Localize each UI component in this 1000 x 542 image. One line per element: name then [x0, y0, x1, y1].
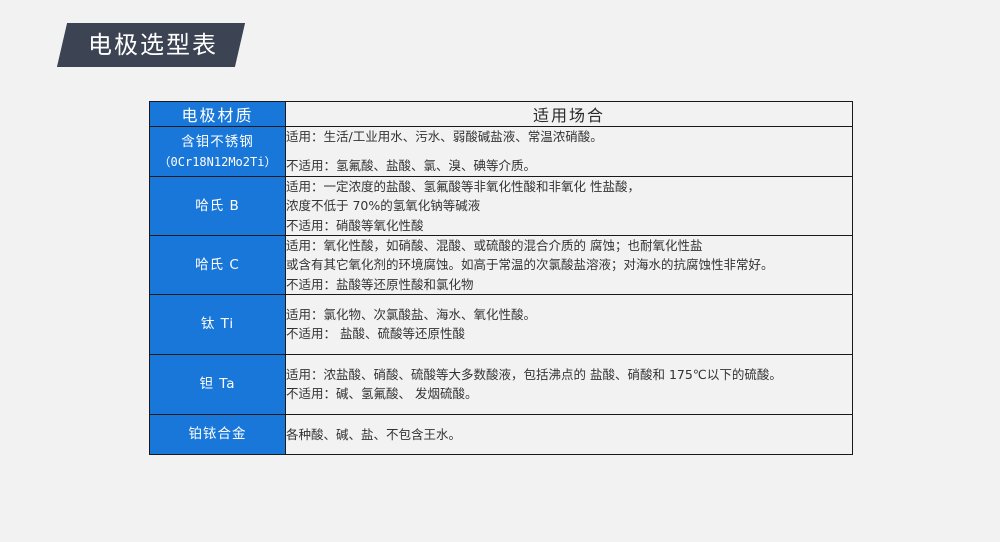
table-row: 哈氏 B 适用：一定浓度的盐酸、氢氟酸等非氧化性酸和非氧化 性盐酸， 浓度不低于… [150, 176, 853, 235]
material-name: 铂铱合金 [189, 426, 247, 442]
material-name: 钛 Ti [201, 316, 234, 332]
usage-line: 适用：生活/工业用水、污水、弱酸碱盐液、常温浓硝酸。 [286, 127, 852, 146]
table-row: 含钼不锈钢 （0Cr18N12Mo2Ti） 适用：生活/工业用水、污水、弱酸碱盐… [150, 127, 853, 177]
electrode-selection-table: 电极材质 适用场合 含钼不锈钢 （0Cr18N12Mo2Ti） 适用：生活/工业… [149, 101, 853, 455]
usage-line: 适用：浓盐酸、硝酸、硫酸等大多数酸液，包括沸点的 盐酸、硝酸和 175℃以下的硫… [286, 365, 852, 384]
usage-line: 不适用： 盐酸、硫酸等还原性酸 [286, 324, 852, 343]
table-row: 钛 Ti 适用：氯化物、次氯酸盐、海水、氧化性酸。 不适用： 盐酸、硫酸等还原性… [150, 295, 853, 355]
usage-line: 适用：氯化物、次氯酸盐、海水、氧化性酸。 [286, 305, 852, 324]
header-cell-usage: 适用场合 [286, 102, 853, 127]
usage-line: 浓度不低于 70%的氢氧化钠等碱液 [286, 196, 852, 215]
material-cell-platinum-iridium: 铂铱合金 [150, 414, 286, 454]
header-cell-material: 电极材质 [150, 102, 286, 127]
usage-line: 不适用：盐酸等还原性酸和氯化物 [286, 275, 852, 294]
material-code: （0Cr18N12Mo2Ti） [150, 153, 285, 171]
page-title-banner: 电极选型表 [57, 23, 245, 67]
usage-cell-platinum-iridium: 各种酸、碱、盐、不包含王水。 [286, 414, 853, 454]
usage-line: 不适用：氢氟酸、盐酸、氯、溴、碘等介质。 [286, 156, 852, 175]
material-cell-hastelloy-c: 哈氏 C [150, 235, 286, 294]
material-cell-tantalum: 钽 Ta [150, 354, 286, 414]
usage-cell-stainless-steel: 适用：生活/工业用水、污水、弱酸碱盐液、常温浓硝酸。 不适用：氢氟酸、盐酸、氯、… [286, 127, 853, 177]
material-cell-hastelloy-b: 哈氏 B [150, 176, 286, 235]
material-name: 钽 Ta [199, 376, 235, 392]
table-row: 哈氏 C 适用：氧化性酸，如硝酸、混酸、或硫酸的混合介质的 腐蚀；也耐氧化性盐 … [150, 235, 853, 294]
material-cell-titanium: 钛 Ti [150, 295, 286, 355]
page-title: 电极选型表 [88, 33, 218, 57]
usage-cell-hastelloy-c: 适用：氧化性酸，如硝酸、混酸、或硫酸的混合介质的 腐蚀；也耐氧化性盐 或含有其它… [286, 235, 853, 294]
table-row: 钽 Ta 适用：浓盐酸、硝酸、硫酸等大多数酸液，包括沸点的 盐酸、硝酸和 175… [150, 354, 853, 414]
usage-cell-tantalum: 适用：浓盐酸、硝酸、硫酸等大多数酸液，包括沸点的 盐酸、硝酸和 175℃以下的硫… [286, 354, 853, 414]
usage-line: 各种酸、碱、盐、不包含王水。 [286, 425, 852, 444]
usage-line: 或含有其它氧化剂的环境腐蚀。如高于常温的次氯酸盐溶液；对海水的抗腐蚀性非常好。 [286, 255, 852, 274]
table-header-row: 电极材质 适用场合 [150, 102, 853, 127]
material-name: 哈氏 B [195, 198, 240, 214]
usage-cell-titanium: 适用：氯化物、次氯酸盐、海水、氧化性酸。 不适用： 盐酸、硫酸等还原性酸 [286, 295, 853, 355]
usage-line: 不适用：碱、氢氟酸、 发烟硫酸。 [286, 384, 852, 403]
usage-line: 适用：一定浓度的盐酸、氢氟酸等非氧化性酸和非氧化 性盐酸， [286, 177, 852, 196]
table-row: 铂铱合金 各种酸、碱、盐、不包含王水。 [150, 414, 853, 454]
material-cell-stainless-steel: 含钼不锈钢 （0Cr18N12Mo2Ti） [150, 127, 286, 177]
material-name: 哈氏 C [195, 257, 240, 273]
material-name: 含钼不锈钢 [181, 134, 254, 150]
usage-line: 不适用：硝酸等氧化性酸 [286, 216, 852, 235]
usage-line: 适用：氧化性酸，如硝酸、混酸、或硫酸的混合介质的 腐蚀；也耐氧化性盐 [286, 236, 852, 255]
usage-cell-hastelloy-b: 适用：一定浓度的盐酸、氢氟酸等非氧化性酸和非氧化 性盐酸， 浓度不低于 70%的… [286, 176, 853, 235]
